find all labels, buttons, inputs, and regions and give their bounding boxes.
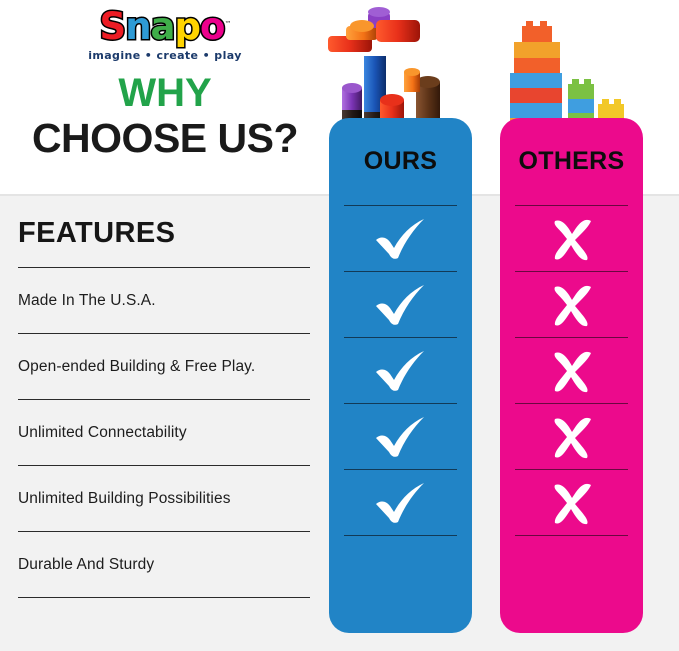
- logo-letter-o: o: [200, 7, 224, 47]
- feature-label: Open-ended Building & Free Play.: [18, 358, 255, 376]
- feature-row: Made In The U.S.A.: [18, 268, 310, 333]
- column-others-label: OTHERS: [519, 147, 625, 176]
- column-ours: OURS: [329, 118, 472, 633]
- brand-block: Snapo™ imagine • create • play: [0, 4, 330, 62]
- ours-mark-row: [329, 338, 472, 403]
- check-icon: [373, 481, 429, 525]
- ours-mark-row: [329, 272, 472, 337]
- logo-letter-n: n: [125, 7, 150, 47]
- feature-row: Unlimited Connectability: [18, 400, 310, 465]
- others-mark-row: [500, 338, 643, 403]
- cross-icon: [548, 415, 596, 459]
- page-title: WHY CHOOSE US?: [0, 72, 330, 162]
- logo-letter-s: S: [100, 7, 126, 47]
- feature-label: Durable And Sturdy: [18, 556, 154, 574]
- column-others-header: OTHERS: [500, 118, 643, 205]
- feature-row: Durable And Sturdy: [18, 532, 310, 597]
- column-others: OTHERS: [500, 118, 643, 633]
- features-header: FEATURES: [18, 205, 310, 267]
- check-icon: [373, 283, 429, 327]
- check-icon: [373, 349, 429, 393]
- feature-divider: [18, 597, 310, 598]
- check-icon: [373, 415, 429, 459]
- trademark-symbol: ™: [224, 4, 230, 44]
- others-mark-row: [500, 206, 643, 271]
- brand-tagline: imagine • create • play: [0, 49, 330, 62]
- others-mark-row: [500, 470, 643, 535]
- features-column: FEATURES Made In The U.S.A. Open-ended B…: [18, 205, 310, 598]
- cross-icon: [548, 349, 596, 393]
- column-ours-label: OURS: [364, 147, 437, 176]
- headline-why: WHY: [0, 72, 330, 114]
- feature-row: Unlimited Building Possibilities: [18, 466, 310, 531]
- column-ours-header: OURS: [329, 118, 472, 205]
- column-rule: [515, 535, 628, 536]
- cross-icon: [548, 217, 596, 261]
- check-icon: [373, 217, 429, 261]
- logo-letter-p: p: [175, 7, 201, 47]
- column-rule: [344, 535, 457, 536]
- others-mark-row: [500, 272, 643, 337]
- cross-icon: [548, 283, 596, 327]
- ours-mark-row: [329, 404, 472, 469]
- headline-choose-us: CHOOSE US?: [0, 114, 330, 162]
- ours-mark-row: [329, 470, 472, 535]
- logo-letter-a: a: [151, 7, 175, 47]
- feature-label: Unlimited Building Possibilities: [18, 490, 231, 508]
- snapo-logo: Snapo™: [0, 4, 330, 47]
- feature-label: Made In The U.S.A.: [18, 292, 156, 310]
- others-mark-row: [500, 404, 643, 469]
- cross-icon: [548, 481, 596, 525]
- feature-label: Unlimited Connectability: [18, 424, 187, 442]
- ours-mark-row: [329, 206, 472, 271]
- feature-row: Open-ended Building & Free Play.: [18, 334, 310, 399]
